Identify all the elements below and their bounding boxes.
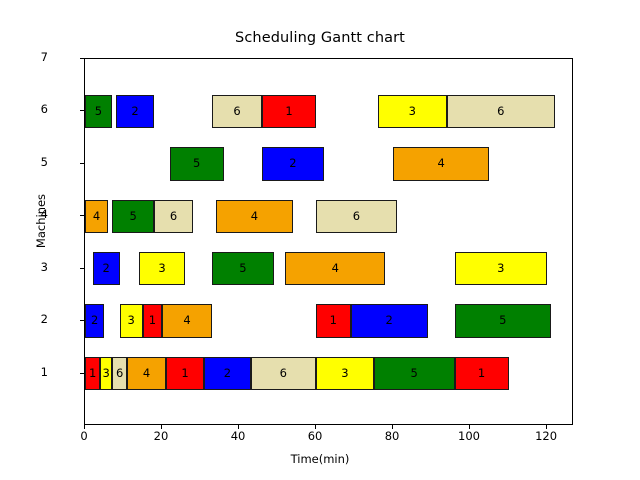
gantt-bar-label: 6	[233, 106, 240, 118]
y-tick-label: 1	[8, 365, 48, 379]
gantt-bar[interactable]: 5	[455, 304, 551, 338]
y-tick-label: 7	[8, 50, 48, 64]
gantt-bar-label: 5	[193, 158, 200, 170]
x-tick-mark	[546, 425, 547, 429]
gantt-bar-label: 1	[285, 106, 292, 118]
gantt-bar-label: 3	[409, 106, 416, 118]
gantt-bar[interactable]: 4	[162, 304, 212, 338]
gantt-bar-label: 3	[497, 263, 504, 275]
y-tick-label: 6	[8, 102, 48, 116]
gantt-bar-label: 1	[478, 368, 485, 380]
gantt-bar-label: 4	[183, 315, 190, 327]
gantt-bar[interactable]: 5	[85, 95, 112, 129]
gantt-bar[interactable]: 1	[143, 304, 162, 338]
y-tick-label: 3	[8, 260, 48, 274]
gantt-bar[interactable]: 4	[85, 200, 108, 234]
gantt-bar[interactable]: 1	[316, 304, 351, 338]
gantt-bar-label: 5	[129, 211, 136, 223]
gantt-bar[interactable]: 3	[139, 252, 185, 286]
plot-area: 136412635123141252354345646524526136	[84, 58, 573, 425]
gantt-bar[interactable]: 2	[85, 304, 104, 338]
gantt-bar[interactable]: 6	[154, 200, 193, 234]
gantt-bar-label: 4	[332, 263, 339, 275]
gantt-bar-label: 4	[251, 211, 258, 223]
gantt-bar[interactable]: 5	[170, 147, 224, 181]
gantt-bar-label: 4	[437, 158, 444, 170]
gantt-bar-label: 4	[143, 368, 150, 380]
x-tick-label: 80	[362, 429, 422, 443]
gantt-bar[interactable]: 4	[127, 357, 166, 391]
gantt-bar[interactable]: 5	[374, 357, 455, 391]
gantt-bar[interactable]: 4	[393, 147, 489, 181]
x-tick-label: 40	[208, 429, 268, 443]
gantt-bar-label: 1	[149, 315, 156, 327]
gantt-bar[interactable]: 1	[455, 357, 509, 391]
gantt-bar[interactable]: 3	[378, 95, 447, 129]
gantt-bar[interactable]: 3	[316, 357, 374, 391]
gantt-bar-label: 6	[116, 368, 123, 380]
gantt-bar[interactable]: 3	[455, 252, 547, 286]
gantt-bar-label: 2	[386, 315, 393, 327]
gantt-bar[interactable]: 6	[212, 95, 262, 129]
x-tick-label: 0	[54, 429, 114, 443]
x-tick-label: 120	[516, 429, 576, 443]
gantt-bar[interactable]: 1	[85, 357, 100, 391]
x-tick-label: 100	[439, 429, 499, 443]
gantt-chart-figure: Scheduling Gantt chart Machines Time(min…	[0, 0, 640, 480]
gantt-bar-label: 2	[131, 106, 138, 118]
gantt-bar[interactable]: 6	[112, 357, 127, 391]
gantt-bar[interactable]: 2	[204, 357, 250, 391]
gantt-bar[interactable]: 2	[351, 304, 428, 338]
x-tick-mark	[84, 425, 85, 429]
gantt-bar[interactable]: 2	[116, 95, 155, 129]
gantt-bar-label: 2	[102, 263, 109, 275]
x-tick-mark	[238, 425, 239, 429]
gantt-bar-label: 5	[499, 315, 506, 327]
gantt-bar-label: 6	[497, 106, 504, 118]
x-tick-mark	[315, 425, 316, 429]
gantt-bar[interactable]: 5	[112, 200, 154, 234]
x-axis-label: Time(min)	[0, 452, 640, 466]
gantt-bar-label: 3	[341, 368, 348, 380]
gantt-bar-label: 6	[170, 211, 177, 223]
x-tick-label: 20	[131, 429, 191, 443]
gantt-bar[interactable]: 3	[100, 357, 112, 391]
y-tick-label: 4	[8, 207, 48, 221]
gantt-bar-label: 2	[289, 158, 296, 170]
gantt-bar-label: 1	[89, 368, 96, 380]
x-tick-mark	[469, 425, 470, 429]
gantt-bar-label: 5	[239, 263, 246, 275]
gantt-bar[interactable]: 1	[262, 95, 316, 129]
gantt-bar-label: 5	[95, 106, 102, 118]
x-tick-mark	[392, 425, 393, 429]
gantt-bar[interactable]: 5	[212, 252, 274, 286]
gantt-bar-label: 3	[158, 263, 165, 275]
x-tick-mark	[161, 425, 162, 429]
gantt-bar-label: 5	[411, 368, 418, 380]
gantt-bar-label: 6	[353, 211, 360, 223]
gantt-bar[interactable]: 6	[447, 95, 555, 129]
gantt-bar[interactable]: 3	[120, 304, 143, 338]
gantt-bar-label: 1	[181, 368, 188, 380]
gantt-bar[interactable]: 6	[251, 357, 316, 391]
gantt-bar[interactable]: 1	[166, 357, 205, 391]
gantt-bar[interactable]: 4	[216, 200, 293, 234]
gantt-bars-layer: 136412635123141252354345646524526136	[85, 59, 572, 424]
gantt-bar-label: 2	[224, 368, 231, 380]
gantt-bar[interactable]: 2	[93, 252, 120, 286]
gantt-bar-label: 3	[103, 368, 110, 380]
gantt-bar-label: 3	[128, 315, 135, 327]
chart-title: Scheduling Gantt chart	[0, 30, 640, 46]
gantt-bar[interactable]: 6	[316, 200, 397, 234]
y-tick-label: 2	[8, 312, 48, 326]
gantt-bar[interactable]: 4	[285, 252, 385, 286]
gantt-bar-label: 6	[280, 368, 287, 380]
y-tick-label: 5	[8, 155, 48, 169]
gantt-bar-label: 1	[330, 315, 337, 327]
gantt-bar-label: 2	[91, 315, 98, 327]
gantt-bar[interactable]: 2	[262, 147, 324, 181]
gantt-bar-label: 4	[93, 211, 100, 223]
x-tick-label: 60	[285, 429, 345, 443]
